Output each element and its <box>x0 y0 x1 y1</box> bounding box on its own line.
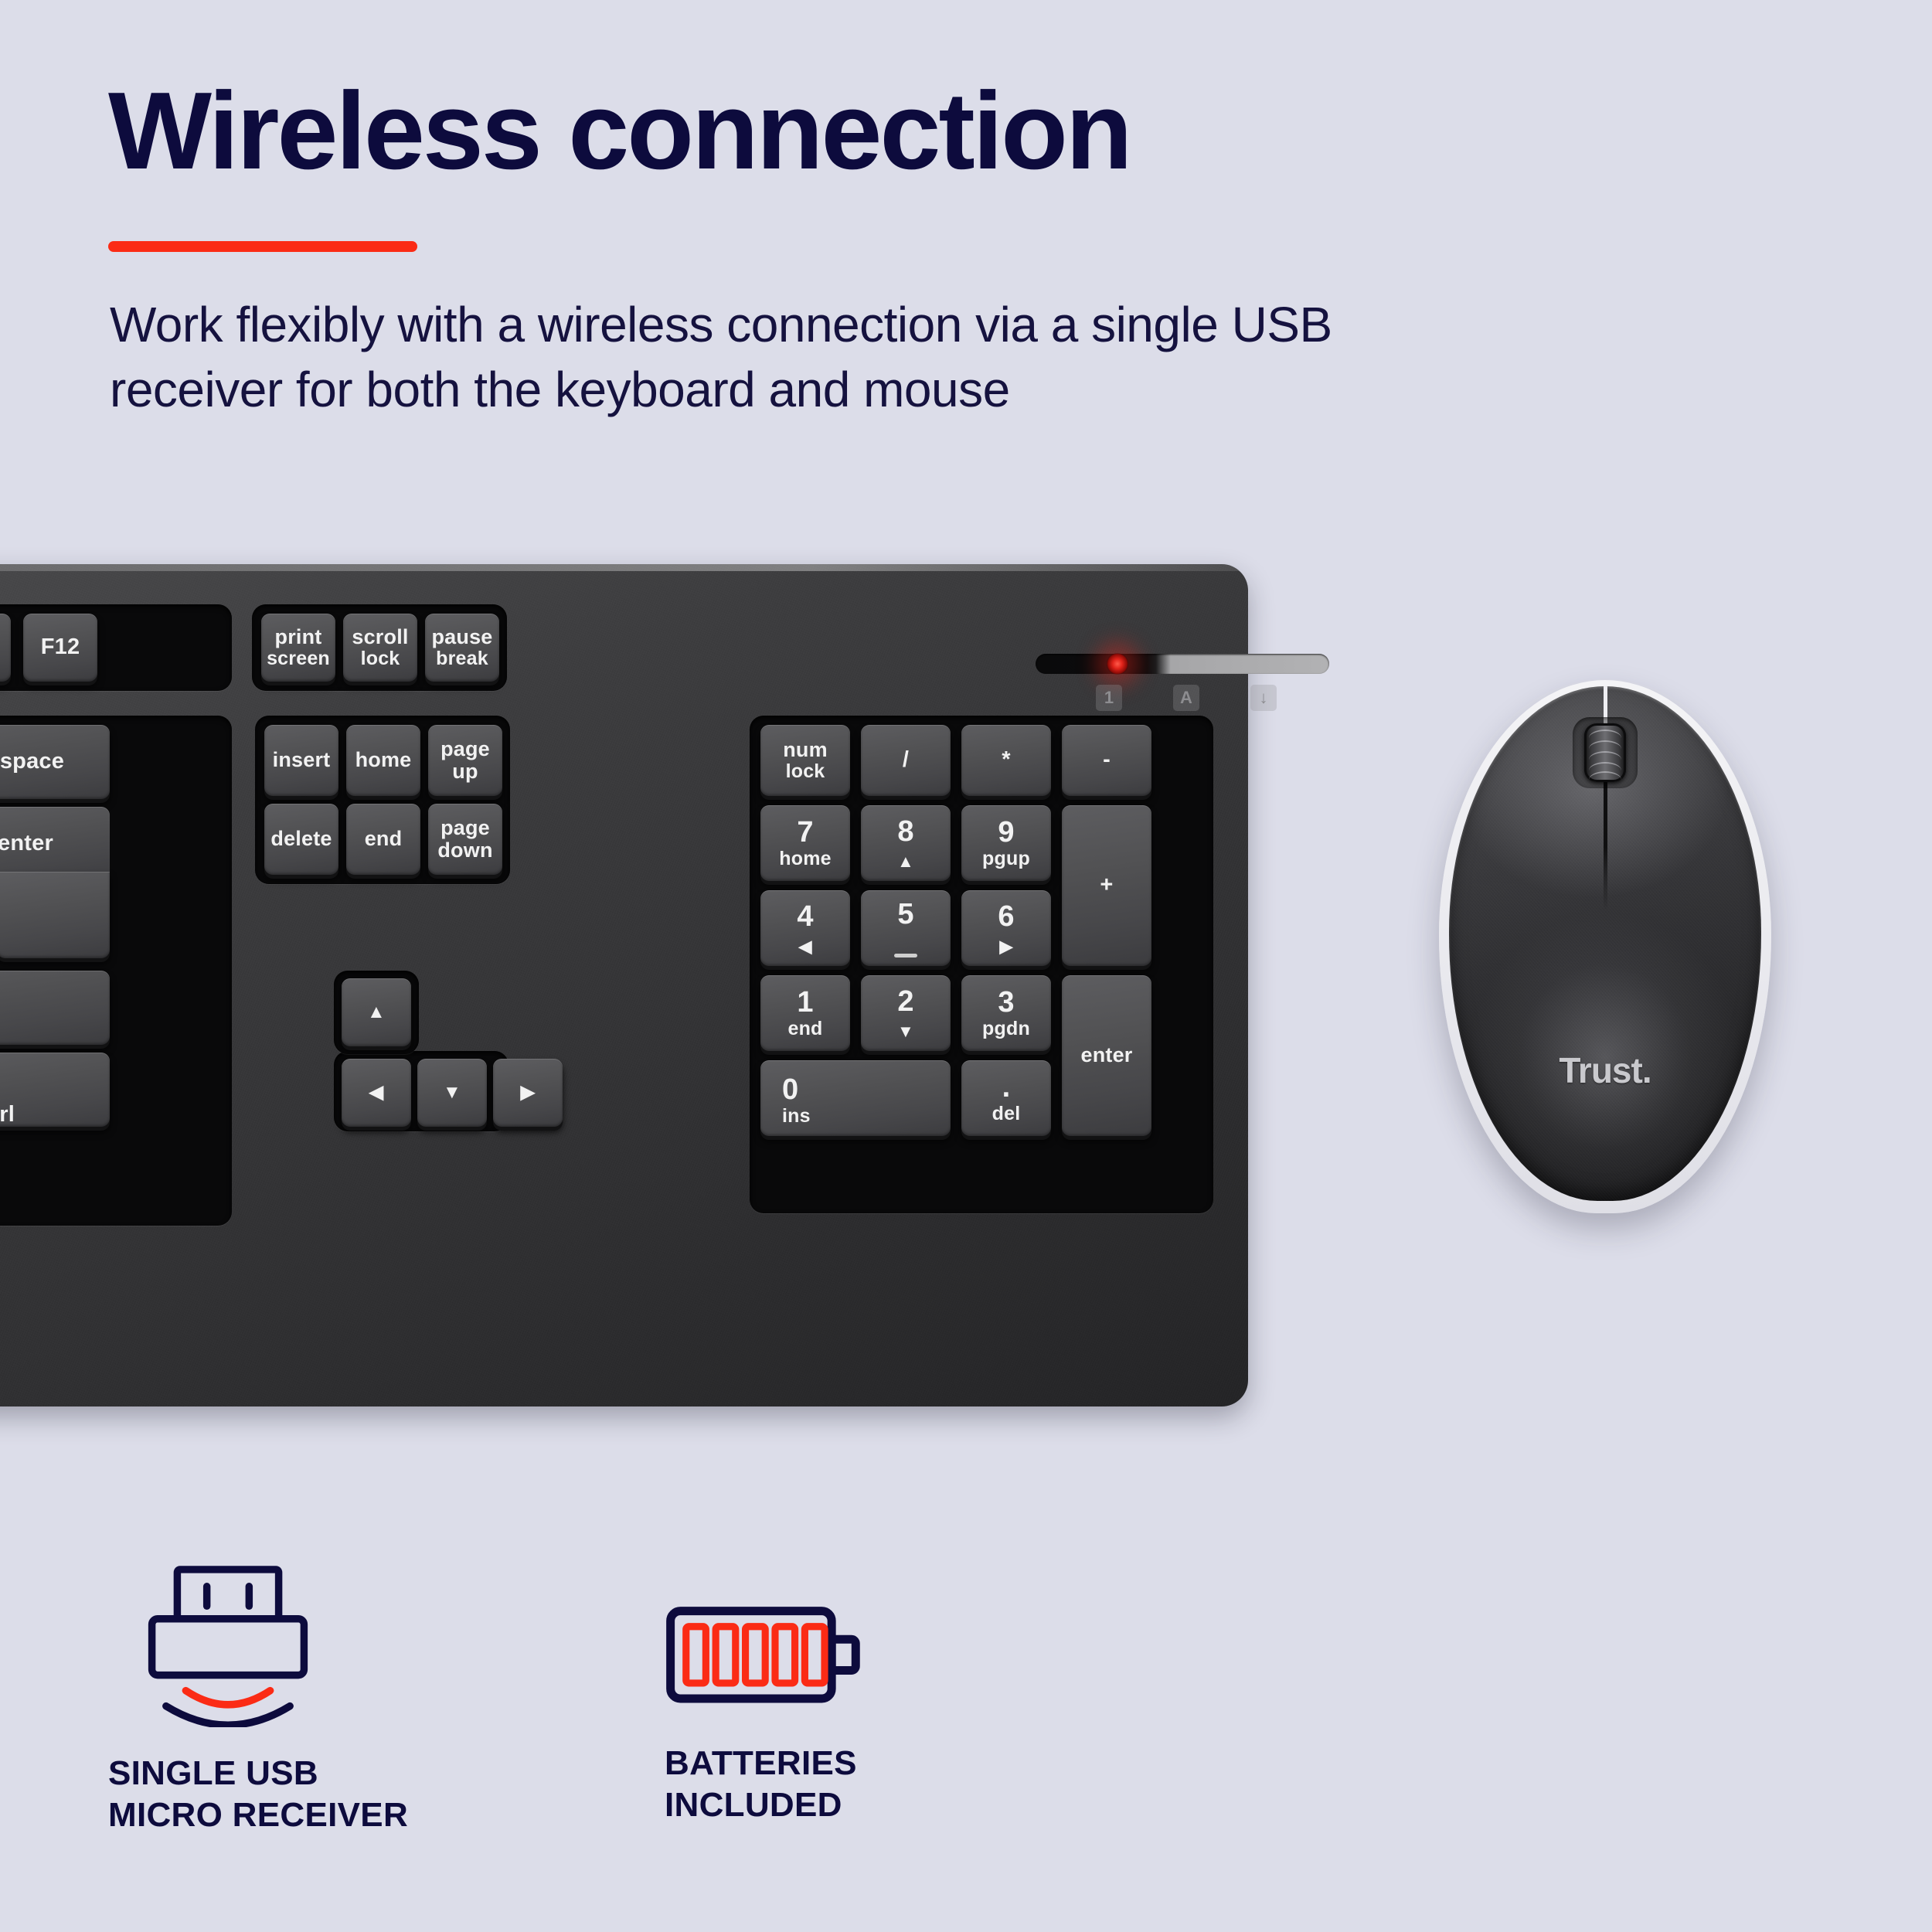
key-label-function: ▶ <box>999 938 1012 955</box>
numlock-led-indicator <box>1107 653 1128 675</box>
key-numpad-0[interactable]: 0 ins <box>760 1060 951 1136</box>
page-title: Wireless connection <box>108 73 1131 189</box>
key-label-number: 2 <box>897 986 913 1018</box>
key-label-function: home <box>779 849 831 869</box>
numlock-indicator-icon: 1 <box>1096 685 1122 711</box>
key-insert[interactable]: insert <box>264 725 338 796</box>
key-numpad-3[interactable]: 3 pgdn <box>961 975 1051 1051</box>
key-label-function: end <box>787 1019 822 1039</box>
feature-single-usb-receiver: SINGLE USB MICRO RECEIVER <box>108 1561 408 1835</box>
key-label-number: 1 <box>797 987 813 1019</box>
key-label-function: pgup <box>982 849 1030 869</box>
key-backspace[interactable]: backspace <box>0 725 110 799</box>
key-numpad-8[interactable]: 8 ▲ <box>861 805 951 881</box>
key-num-lock[interactable]: num lock <box>760 725 850 796</box>
key-numpad-decimal[interactable]: . del <box>961 1060 1051 1136</box>
mouse-body: Trust. <box>1449 686 1761 1201</box>
key-home[interactable]: home <box>346 725 420 796</box>
key-f11[interactable]: F11 <box>0 614 11 682</box>
page-subtitle: Work flexibly with a wireless connection… <box>110 292 1516 423</box>
key-arrow-up[interactable]: ▲ <box>342 978 411 1046</box>
wheel-rib <box>1589 771 1621 780</box>
key-label-number: 6 <box>998 901 1014 933</box>
key-label-function: pgdn <box>982 1019 1030 1039</box>
homing-bar <box>894 954 917 957</box>
accent-underline <box>108 241 417 252</box>
key-label-bottom: lock <box>361 648 400 669</box>
key-label-number: . <box>1002 1072 1011 1104</box>
key-label-bottom: break <box>436 648 488 669</box>
key-numpad-1[interactable]: 1 end <box>760 975 850 1051</box>
key-label-top: pause <box>431 626 492 648</box>
key-arrow-right[interactable]: ▶ <box>493 1059 563 1127</box>
key-label-top: scroll <box>352 626 408 648</box>
key-page-up[interactable]: page up <box>428 725 502 796</box>
key-label-function: ▲ <box>897 853 914 870</box>
key-numpad-minus[interactable]: - <box>1062 725 1151 796</box>
key-shift-right[interactable]: shift <box>0 971 110 1045</box>
key-numpad-6[interactable]: 6 ▶ <box>961 890 1051 966</box>
usb-receiver-icon <box>108 1561 348 1727</box>
key-label-function: ◀ <box>798 938 811 955</box>
key-label-number: 4 <box>797 901 813 933</box>
key-ctrl-right[interactable]: ctrl <box>0 1053 110 1127</box>
key-end[interactable]: end <box>346 804 420 875</box>
key-enter-upper[interactable]: enter <box>0 807 110 881</box>
led-indicator-labels: 1 A ↓ <box>1036 685 1329 713</box>
battery-icon <box>665 1600 877 1716</box>
wheel-rib <box>1589 751 1621 760</box>
key-label-top: num <box>783 739 828 761</box>
key-label-bottom: lock <box>786 761 825 782</box>
key-numpad-2[interactable]: 2 ▼ <box>861 975 951 1051</box>
key-numpad-divide[interactable]: / <box>861 725 951 796</box>
key-label-top: print <box>275 626 322 648</box>
wheel-rib <box>1589 740 1621 749</box>
key-label-function: ▼ <box>897 1023 914 1040</box>
key-label-number: 7 <box>797 817 813 849</box>
key-scroll-lock[interactable]: scroll lock <box>343 614 417 682</box>
scrolllock-indicator-icon: ↓ <box>1250 685 1277 711</box>
key-label-number: 5 <box>897 899 913 930</box>
key-label-function: del <box>992 1104 1021 1124</box>
key-arrow-left[interactable]: ◀ <box>342 1059 411 1127</box>
wheel-rib <box>1589 762 1621 770</box>
key-label-bottom: screen <box>267 648 330 669</box>
key-arrow-down[interactable]: ▼ <box>417 1059 487 1127</box>
key-label-number: 8 <box>897 816 913 848</box>
key-page-down[interactable]: page down <box>428 804 502 875</box>
feature-batteries-included: BATTERIES INCLUDED <box>665 1600 877 1825</box>
scroll-wheel[interactable] <box>1584 723 1626 782</box>
key-numpad-9[interactable]: 9 pgup <box>961 805 1051 881</box>
feature-caption: BATTERIES INCLUDED <box>665 1743 877 1825</box>
key-label-number: 9 <box>998 817 1014 849</box>
key-numpad-enter[interactable]: enter <box>1062 975 1151 1136</box>
mouse-image: Trust. <box>1439 680 1771 1213</box>
marketing-banner: Wireless connection Work flexibly with a… <box>0 0 1932 1932</box>
key-label-function: ins <box>782 1106 811 1127</box>
key-enter-lower[interactable] <box>0 872 110 958</box>
key-numpad-plus[interactable]: + <box>1062 805 1151 966</box>
key-delete[interactable]: delete <box>264 804 338 875</box>
wheel-rib <box>1589 730 1621 738</box>
capslock-indicator-icon: A <box>1173 685 1199 711</box>
key-pause-break[interactable]: pause break <box>425 614 499 682</box>
key-f12[interactable]: F12 <box>23 614 97 682</box>
key-numpad-5[interactable]: 5 <box>861 890 951 966</box>
status-led-strip <box>1036 654 1329 674</box>
feature-caption: SINGLE USB MICRO RECEIVER <box>108 1753 408 1835</box>
key-print-screen[interactable]: print screen <box>261 614 335 682</box>
mouse-brand-logo: Trust. <box>1449 1049 1761 1091</box>
key-label-number: 0 <box>782 1074 798 1106</box>
key-label-number: 3 <box>998 987 1014 1019</box>
key-numpad-4[interactable]: 4 ◀ <box>760 890 850 966</box>
key-numpad-7[interactable]: 7 home <box>760 805 850 881</box>
key-numpad-multiply[interactable]: * <box>961 725 1051 796</box>
